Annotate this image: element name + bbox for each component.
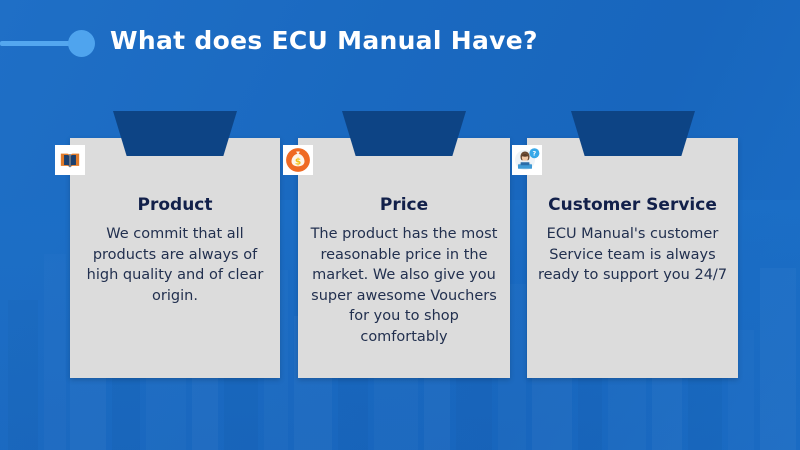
card-body: Customer Service ECU Manual's customer S…	[527, 138, 738, 378]
feature-cards-row: Product We commit that all products are …	[70, 111, 738, 381]
decorative-line-icon	[0, 41, 78, 46]
page-title: What does ECU Manual Have?	[110, 26, 538, 55]
card-banner	[342, 111, 466, 156]
card-banner	[571, 111, 695, 156]
card-description: ECU Manual's customer Service team is al…	[535, 224, 730, 286]
money-bag-icon: $	[283, 145, 313, 175]
header-decoration	[0, 36, 96, 50]
card-title: Price	[298, 195, 510, 215]
card-banner	[113, 111, 237, 156]
decorative-dot-icon	[68, 30, 95, 57]
card-description: We commit that all products are always o…	[78, 224, 272, 306]
support-agent-icon: ?	[512, 145, 542, 175]
card-title: Product	[70, 195, 280, 215]
slide-canvas: What does ECU Manual Have? Product We co…	[0, 0, 800, 450]
card-body: Price The product has the most reasonabl…	[298, 138, 510, 378]
svg-text:$: $	[295, 157, 301, 167]
card-title: Customer Service	[527, 195, 738, 215]
card-description: The product has the most reasonable pric…	[306, 224, 502, 347]
svg-text:?: ?	[533, 150, 537, 158]
card-body: Product We commit that all products are …	[70, 138, 280, 378]
open-book-icon	[55, 145, 85, 175]
